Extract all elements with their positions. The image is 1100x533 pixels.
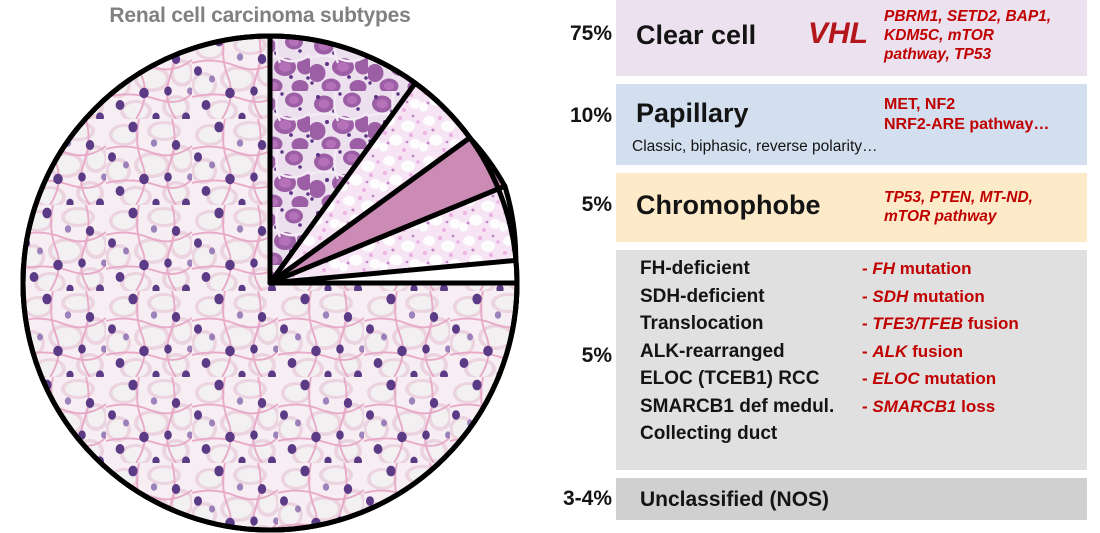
rare-subtype-gene: - TFE3/TFEB fusion (862, 314, 1019, 334)
rare-subtype-name: Translocation (640, 313, 764, 335)
panel-papillary: Papillary Classic, biphasic, reverse pol… (616, 84, 1087, 165)
panel-clear-cell: Clear cell VHL PBRM1, SETD2, BAP1, KDM5C… (616, 0, 1087, 76)
rare-subtype-row: ELOC (TCEB1) RCC- ELOC mutation (616, 368, 1087, 396)
rare-subtype-gene: - SMARCB1 loss (862, 397, 995, 417)
pie-chart-graphic (20, 33, 520, 533)
rcc-subtypes-figure: Renal cell carcinoma subtypes (0, 0, 1100, 531)
pie-chart-title: Renal cell carcinoma subtypes (0, 4, 520, 28)
rare-subtype-gene: - SDH mutation (862, 287, 985, 307)
panel-rare-subtypes: FH-deficient- FH mutationSDH-deficient- … (616, 250, 1087, 470)
percent-chromophobe: 5% (530, 193, 612, 217)
panel-unclassified: Unclassified (NOS) (616, 478, 1087, 520)
rare-subtype-gene: - ALK fusion (862, 342, 963, 362)
rare-subtype-name: Collecting duct (640, 423, 777, 445)
rare-subtype-gene: - FH mutation (862, 259, 972, 279)
rare-subtype-row: ALK-rearranged- ALK fusion (616, 341, 1087, 369)
subtype-name-chromophobe: Chromophobe (636, 192, 820, 219)
rare-subtype-name: ELOC (TCEB1) RCC (640, 368, 819, 390)
rare-subtype-name: FH-deficient (640, 258, 750, 280)
rare-subtype-row: SMARCB1 def medul.- SMARCB1 loss (616, 396, 1087, 424)
gene-list-chromophobe: TP53, PTEN, MT-ND, mTOR pathway (884, 188, 1033, 226)
rare-subtype-gene: - ELOC mutation (862, 369, 996, 389)
percent-unclassified: 3-4% (530, 487, 612, 511)
gene-list-papillary: MET, NF2 NRF2-ARE pathway… (884, 95, 1049, 135)
rare-subtype-row: SDH-deficient- SDH mutation (616, 286, 1087, 314)
pie-chart-panel: Renal cell carcinoma subtypes (0, 0, 530, 531)
rare-subtype-name: ALK-rearranged (640, 341, 785, 363)
percent-rare-subtypes: 5% (530, 344, 612, 368)
percent-papillary: 10% (530, 104, 612, 128)
rare-subtype-row: Collecting duct (616, 423, 1087, 451)
subtype-name-papillary: Papillary (636, 100, 749, 127)
subtype-name-unclassified: Unclassified (NOS) (640, 488, 829, 512)
pie-svg (20, 33, 520, 533)
rare-subtype-name: SMARCB1 def medul. (640, 396, 834, 418)
rare-subtype-row: Translocation- TFE3/TFEB fusion (616, 313, 1087, 341)
panel-chromophobe: Chromophobe TP53, PTEN, MT-ND, mTOR path… (616, 173, 1087, 242)
papillary-subnote: Classic, biphasic, reverse polarity… (632, 138, 878, 156)
percent-clear-cell: 75% (530, 22, 612, 46)
gene-vhl: VHL (808, 19, 868, 49)
gene-list-clear-cell: PBRM1, SETD2, BAP1, KDM5C, mTOR pathway,… (884, 7, 1051, 65)
rare-subtype-row: FH-deficient- FH mutation (616, 258, 1087, 286)
rare-subtype-list: FH-deficient- FH mutationSDH-deficient- … (616, 250, 1087, 451)
rare-subtype-name: SDH-deficient (640, 286, 765, 308)
subtype-name-clear-cell: Clear cell (636, 22, 756, 49)
subtype-table-panel: 75% Clear cell VHL PBRM1, SETD2, BAP1, K… (530, 0, 1100, 531)
